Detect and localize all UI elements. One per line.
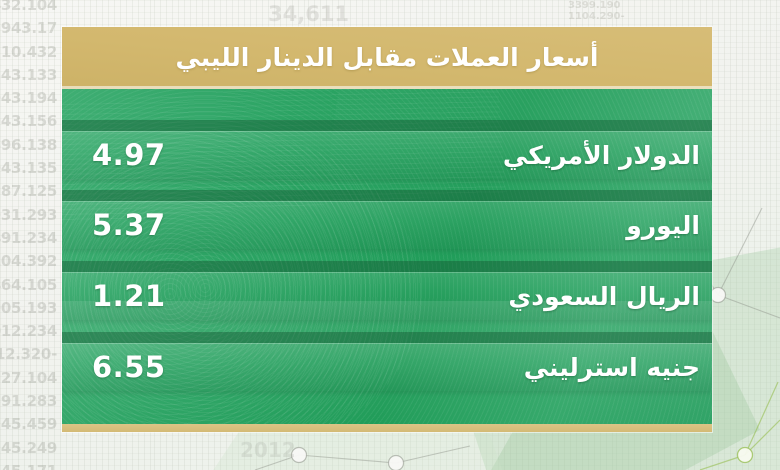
ticker-number: 943.135 [0, 157, 57, 180]
rate-value: 6.55 [92, 350, 166, 384]
ticker-number: 464.105 [0, 274, 57, 297]
ticker-number: 432.104 [0, 0, 57, 17]
background-number-top-center: 34,611 [268, 2, 349, 26]
ticker-number: 45.249 [0, 437, 57, 460]
ticker-number: 905.193 [0, 297, 57, 320]
rate-row[interactable]: 4.97الدولار الأمريكي [62, 131, 712, 179]
background-number-bottom-center: 2012 [240, 438, 296, 462]
ticker-number: 345.171 [0, 460, 57, 470]
panel-footer-strip [62, 424, 712, 432]
ticker-number: 87.125 [0, 180, 57, 203]
panel-title-bar: أسعار العملات مقابل الدينار الليبي [62, 27, 712, 89]
ticker-number: 104.392 [0, 250, 57, 273]
background-ticker-numbers: 432.104943.1710.432543.133943.19443.1568… [0, 0, 62, 470]
rate-value: 4.97 [92, 138, 166, 172]
currency-name: اليورو [626, 211, 700, 240]
ticker-number: 591.283 [0, 390, 57, 413]
ticker-number: 10.432 [0, 41, 57, 64]
currency-rates-panel: أسعار العملات مقابل الدينار الليبي 4.97ا… [62, 27, 712, 432]
rate-row[interactable]: 5.37اليورو [62, 201, 712, 249]
rate-value: 5.37 [92, 208, 166, 242]
ticker-number: 345.459 [0, 413, 57, 436]
ticker-number: 43.156 [0, 110, 57, 133]
panel-body: 4.97الدولار الأمريكي5.37اليورو1.21الريال… [62, 89, 712, 432]
page-title: أسعار العملات مقابل الدينار الليبي [176, 43, 599, 74]
ticker-number: 543.133 [0, 64, 57, 87]
ticker-number: 943.194 [0, 87, 57, 110]
rate-row[interactable]: 6.55جنيه استرليني [62, 343, 712, 391]
rate-value: 1.21 [92, 279, 166, 313]
ticker-number: 943.17 [0, 17, 57, 40]
background-number-top-right-a: 3399.190 [568, 0, 621, 11]
ticker-number: 012.234 [0, 320, 57, 343]
ticker-number: 27.104 [0, 367, 57, 390]
ticker-number: -12.320 [0, 343, 57, 366]
ticker-number: 931.293 [0, 204, 57, 227]
rates-list: 4.97الدولار الأمريكي5.37اليورو1.21الريال… [62, 89, 712, 432]
currency-name: الدولار الأمريكي [503, 141, 700, 170]
screenshot-root: 432.104943.1710.432543.133943.19443.1568… [0, 0, 780, 470]
currency-name: جنيه استرليني [524, 353, 700, 382]
ticker-number: 491.234 [0, 227, 57, 250]
currency-name: الريال السعودي [508, 282, 700, 311]
rate-row[interactable]: 1.21الريال السعودي [62, 272, 712, 320]
ticker-number: 896.138 [0, 134, 57, 157]
background-number-top-right-b: -1104.290 [568, 11, 625, 22]
